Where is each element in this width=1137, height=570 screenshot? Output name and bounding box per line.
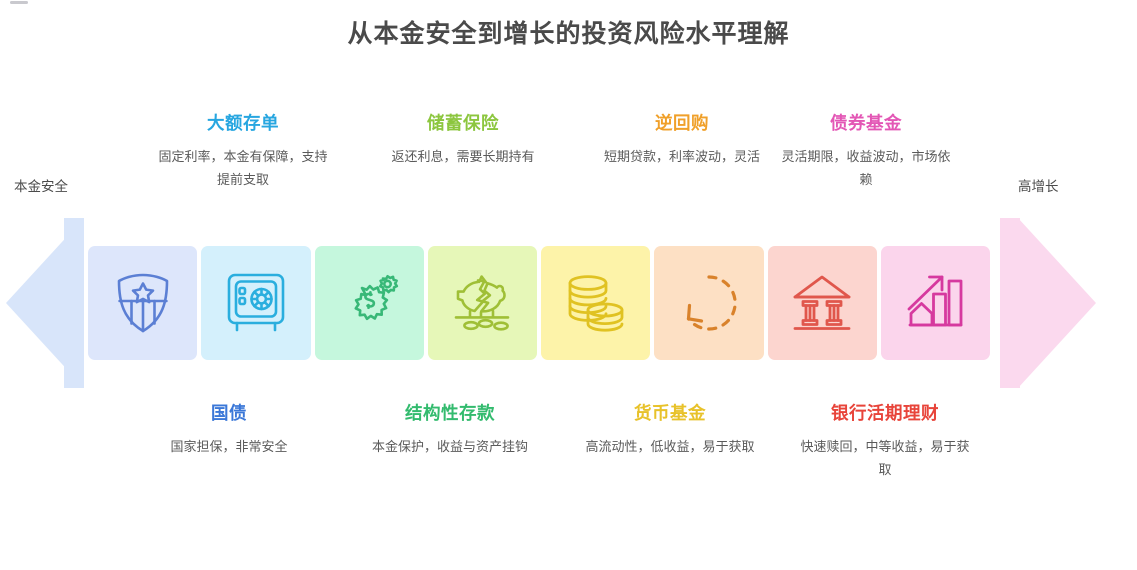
- callout-name: 大额存单: [155, 110, 331, 135]
- top-scrollbar-artifact: [10, 1, 28, 4]
- right-arrow-icon: [1018, 218, 1096, 388]
- callout-top-1: 大额存单 固定利率，本金有保障，支持提前支取: [155, 110, 331, 193]
- callout-top-2: 储蓄保险 返还利息，需要长期持有: [375, 110, 551, 170]
- callout-description: 国家担保，非常安全: [141, 437, 317, 460]
- callout-top-3: 逆回购 短期贷款，利率波动，灵活: [594, 110, 770, 170]
- callout-description: 固定利率，本金有保障，支持提前支取: [155, 147, 331, 193]
- callout-name: 国债: [141, 400, 317, 425]
- callout-description: 本金保护，收益与资产挂钩: [362, 437, 538, 460]
- coin-stacks-icon: [565, 272, 627, 334]
- left-arrow-icon: [6, 218, 84, 388]
- tile-dashed-refresh-arrow[interactable]: [654, 246, 763, 360]
- callout-description: 短期贷款，利率波动，灵活: [594, 147, 770, 170]
- risk-spectrum-strip: [88, 246, 990, 360]
- tile-shield-star[interactable]: [88, 246, 197, 360]
- callout-name: 逆回购: [594, 110, 770, 135]
- tile-broken-piggy-bank[interactable]: [428, 246, 537, 360]
- bank-building-icon: [791, 274, 853, 332]
- callout-name: 储蓄保险: [375, 110, 551, 135]
- page-title: 从本金安全到增长的投资风险水平理解: [0, 14, 1137, 50]
- safe-vault-icon: [226, 272, 286, 334]
- callout-description: 快速赎回，中等收益，易于获取: [797, 437, 973, 483]
- callout-bottom-2: 结构性存款 本金保护，收益与资产挂钩: [362, 400, 538, 460]
- right-arrow-shoulder: [1000, 218, 1020, 388]
- callout-description: 高流动性，低收益，易于获取: [582, 437, 758, 460]
- axis-label-right: 高增长: [1018, 175, 1059, 195]
- callout-name: 货币基金: [582, 400, 758, 425]
- callout-bottom-1: 国债 国家担保，非常安全: [141, 400, 317, 460]
- callout-name: 债券基金: [778, 110, 954, 135]
- shield-star-icon: [114, 271, 172, 335]
- axis-label-left: 本金安全: [14, 175, 68, 195]
- dashed-refresh-arrow-icon: [678, 272, 740, 334]
- callout-description: 灵活期限，收益波动，市场依赖: [778, 147, 954, 193]
- callout-top-4: 债券基金 灵活期限，收益波动，市场依赖: [778, 110, 954, 193]
- tile-growth-bar-chart[interactable]: [881, 246, 990, 360]
- callout-bottom-3: 货币基金 高流动性，低收益，易于获取: [582, 400, 758, 460]
- tile-safe-vault[interactable]: [201, 246, 310, 360]
- growth-bar-chart-icon: [905, 273, 965, 333]
- callout-name: 银行活期理财: [797, 400, 973, 425]
- tile-bank-building[interactable]: [768, 246, 877, 360]
- tile-gears-dollar[interactable]: [315, 246, 424, 360]
- callout-description: 返还利息，需要长期持有: [375, 147, 551, 170]
- broken-piggy-bank-icon: [449, 274, 515, 332]
- callout-name: 结构性存款: [362, 400, 538, 425]
- gears-dollar-icon: [338, 272, 400, 334]
- tile-coin-stacks[interactable]: [541, 246, 650, 360]
- callout-bottom-4: 银行活期理财 快速赎回，中等收益，易于获取: [797, 400, 973, 483]
